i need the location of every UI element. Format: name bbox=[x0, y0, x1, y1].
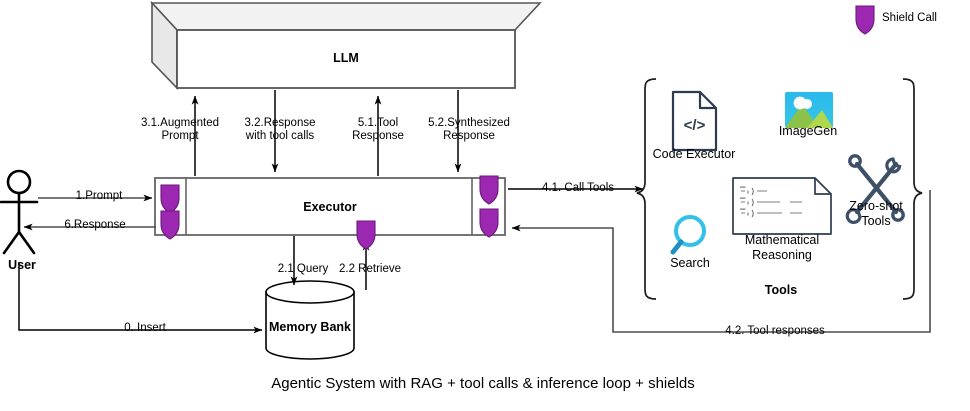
legend-shield-icon bbox=[856, 6, 874, 34]
llm-node[interactable] bbox=[152, 3, 540, 88]
memory-bank-node[interactable] bbox=[266, 281, 354, 359]
user-leg-right bbox=[19, 232, 34, 253]
user-leg-left bbox=[4, 232, 19, 253]
diagram-canvas: </> bbox=[0, 0, 970, 411]
edge-tool-responses bbox=[512, 190, 930, 332]
user-head bbox=[8, 171, 30, 193]
architecture-diagram: </> bbox=[0, 0, 970, 411]
shield-executor-memory[interactable] bbox=[357, 221, 375, 249]
llm-cube-top bbox=[152, 3, 540, 30]
llm-cube-front bbox=[177, 30, 515, 88]
svg-text:</>: </> bbox=[684, 117, 706, 134]
crossed-wrenches-icon[interactable] bbox=[847, 156, 903, 223]
tools-brace-right bbox=[903, 79, 922, 299]
edge-insert bbox=[19, 262, 262, 330]
memory-bank-top bbox=[266, 281, 354, 303]
executor-node[interactable] bbox=[155, 178, 505, 235]
math-document-icon[interactable] bbox=[733, 178, 831, 234]
image-photo-icon[interactable] bbox=[785, 92, 833, 128]
executor-body bbox=[155, 178, 505, 235]
code-file-icon[interactable]: </> bbox=[673, 92, 716, 150]
magnifier-icon[interactable] bbox=[673, 217, 704, 252]
user-actor[interactable] bbox=[1, 171, 37, 253]
